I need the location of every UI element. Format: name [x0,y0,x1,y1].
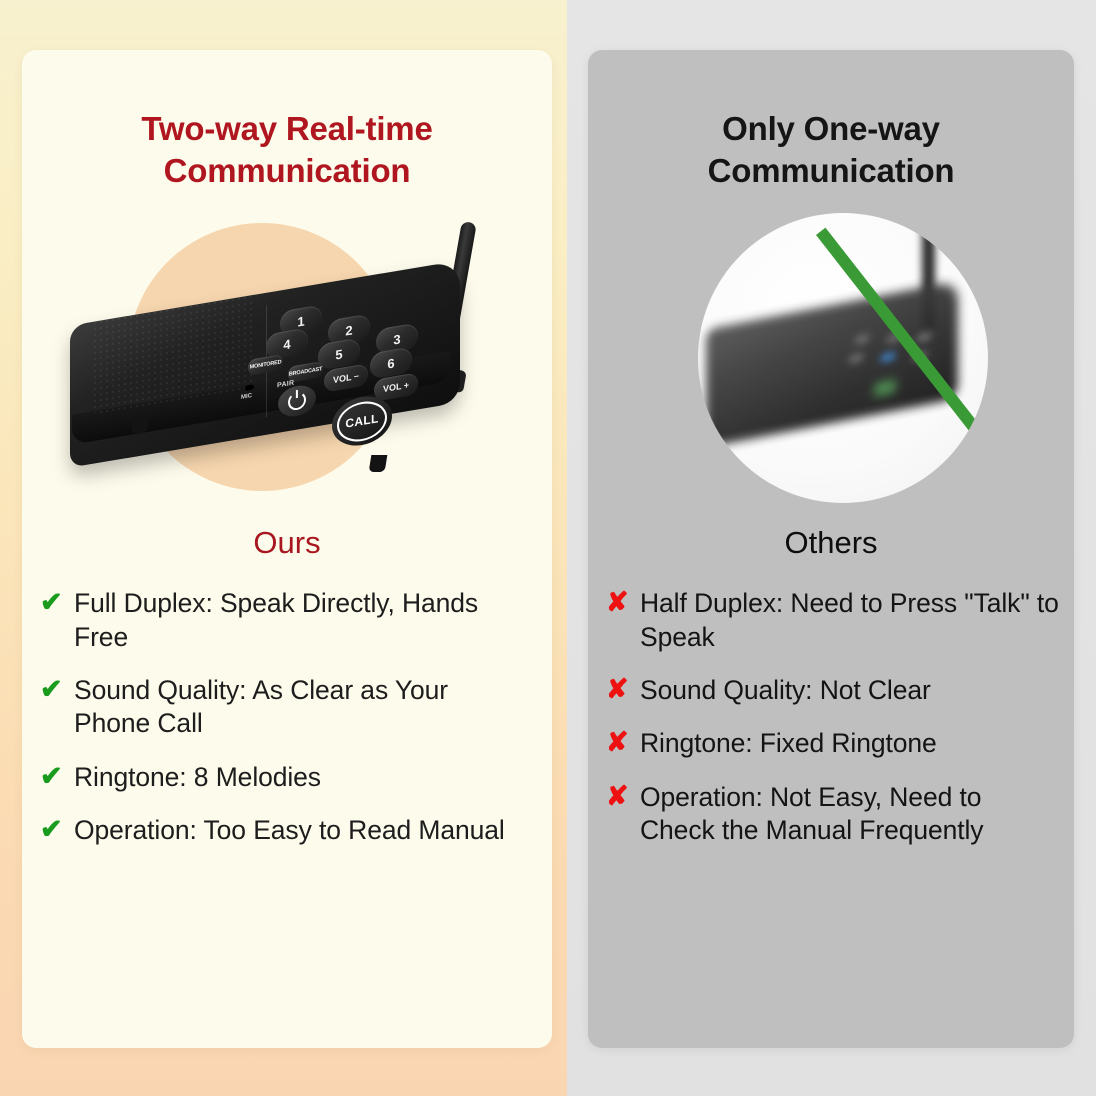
white-circle-backdrop [698,213,988,503]
others-card: Only One-way Communication Others ✘ Half… [588,50,1074,1048]
intercom-device: 1 2 3 4 5 6 MONITORED BROADCAST VOL − VO… [70,265,490,480]
others-feature-list: ✘ Half Duplex: Need to Press "Talk" to S… [588,561,1074,847]
list-item: ✔ Ringtone: 8 Melodies [40,761,526,794]
ours-product-image: 1 2 3 4 5 6 MONITORED BROADCAST VOL − VO… [22,203,552,503]
others-label: Others [588,503,1074,561]
right-panel-background: Only One-way Communication Others ✘ Half… [567,0,1096,1096]
list-item: ✘ Sound Quality: Not Clear [606,674,1060,707]
list-item: ✔ Sound Quality: As Clear as Your Phone … [40,674,526,741]
cross-icon: ✘ [606,727,640,759]
check-icon: ✔ [40,814,74,846]
device-call-label: CALL [337,397,387,444]
cross-icon: ✘ [606,781,640,813]
feature-text: Half Duplex: Need to Press "Talk" to Spe… [640,587,1060,654]
feature-text: Operation: Too Easy to Read Manual [74,814,505,847]
right-panel-title: Only One-way Communication [588,50,1074,191]
feature-text: Full Duplex: Speak Directly, Hands Free [74,587,526,654]
left-panel-background: Two-way Real-time Communication 1 2 3 4 [0,0,567,1096]
check-icon: ✔ [40,761,74,793]
feature-text: Sound Quality: As Clear as Your Phone Ca… [74,674,526,741]
list-item: ✘ Operation: Not Easy, Need to Check the… [606,781,1060,848]
check-icon: ✔ [40,587,74,619]
left-panel-title: Two-way Real-time Communication [22,50,552,191]
ours-feature-list: ✔ Full Duplex: Speak Directly, Hands Fre… [22,561,552,847]
feature-text: Operation: Not Easy, Need to Check the M… [640,781,1060,848]
others-product-image [588,203,1074,503]
check-icon: ✔ [40,674,74,706]
cross-icon: ✘ [606,587,640,619]
list-item: ✘ Half Duplex: Need to Press "Talk" to S… [606,587,1060,654]
feature-text: Ringtone: Fixed Ringtone [640,727,937,760]
power-icon [288,391,306,412]
list-item: ✔ Full Duplex: Speak Directly, Hands Fre… [40,587,526,654]
ours-label: Ours [22,503,552,561]
cross-icon: ✘ [606,674,640,706]
feature-text: Sound Quality: Not Clear [640,674,931,707]
feature-text: Ringtone: 8 Melodies [74,761,321,794]
list-item: ✔ Operation: Too Easy to Read Manual [40,814,526,847]
device-foot-right [369,455,388,472]
list-item: ✘ Ringtone: Fixed Ringtone [606,727,1060,760]
comparison-infographic: Two-way Real-time Communication 1 2 3 4 [0,0,1096,1096]
ours-card: Two-way Real-time Communication 1 2 3 4 [22,50,552,1048]
